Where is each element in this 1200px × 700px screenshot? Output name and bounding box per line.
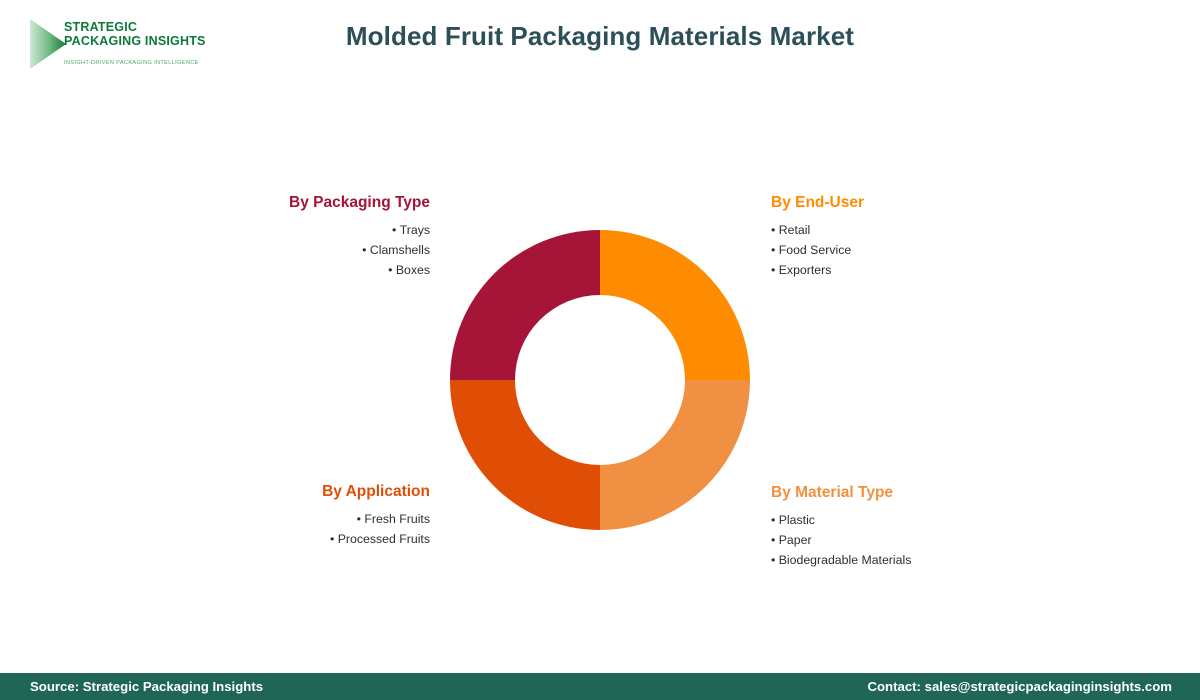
segment-list-material-type: Plastic Paper Biodegradable Materials	[771, 510, 1071, 570]
segment-list-packaging-type: Trays Clamshells Boxes	[190, 220, 430, 280]
footer-bar: Source: Strategic Packaging Insights Con…	[0, 673, 1200, 700]
segment-group-end-user: By End-User Retail Food Service Exporter…	[771, 194, 1051, 280]
footer-contact-text[interactable]: Contact: sales@strategicpackaginginsight…	[867, 679, 1172, 694]
page-title: Molded Fruit Packaging Materials Market	[0, 21, 1200, 52]
list-item: Paper	[771, 530, 1071, 550]
list-item: Boxes	[190, 260, 430, 280]
donut-chart	[450, 230, 750, 530]
list-item: Plastic	[771, 510, 1071, 530]
segment-title-application: By Application	[190, 483, 430, 501]
list-item: Processed Fruits	[190, 529, 430, 549]
list-item: Trays	[190, 220, 430, 240]
list-item: Fresh Fruits	[190, 509, 430, 529]
footer-source-text: Source: Strategic Packaging Insights	[30, 679, 263, 694]
donut-center-hole	[515, 295, 685, 465]
segment-list-application: Fresh Fruits Processed Fruits	[190, 509, 430, 549]
segment-group-packaging-type: By Packaging Type Trays Clamshells Boxes	[190, 194, 430, 280]
segment-group-material-type: By Material Type Plastic Paper Biodegrad…	[771, 484, 1071, 570]
segment-title-end-user: By End-User	[771, 194, 1051, 212]
list-item: Clamshells	[190, 240, 430, 260]
list-item: Retail	[771, 220, 1051, 240]
list-item: Food Service	[771, 240, 1051, 260]
list-item: Biodegradable Materials	[771, 550, 1071, 570]
segment-group-application: By Application Fresh Fruits Processed Fr…	[190, 483, 430, 549]
segment-title-packaging-type: By Packaging Type	[190, 194, 430, 212]
logo-tagline: INSIGHT-DRIVEN PACKAGING INTELLIGENCE	[64, 60, 199, 66]
list-item: Exporters	[771, 260, 1051, 280]
segment-title-material-type: By Material Type	[771, 484, 1071, 502]
segment-list-end-user: Retail Food Service Exporters	[771, 220, 1051, 280]
